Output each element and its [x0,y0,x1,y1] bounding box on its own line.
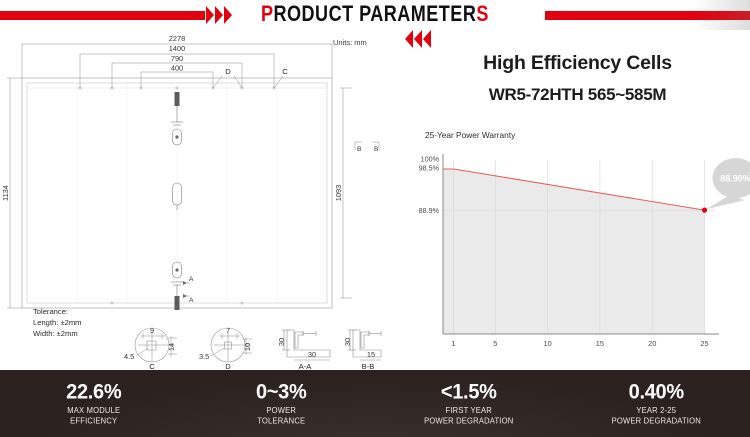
section-view-b-b: 30 15 B-B [343,330,381,370]
chart-xtick-label: 1 [451,339,455,348]
panel-title: High Efficiency Cells [405,52,750,75]
annotation-label: 88.90% [720,174,750,184]
detail-view-d: 7 10 3.5 D [199,326,252,370]
tolerance-width: Width: ±2mm [33,329,82,340]
detail-d-dim-side: 10 [243,343,252,351]
spec-value: 0.40% [629,380,684,405]
spec-label: POWER TOLERANCE [188,405,376,427]
callout-c: C [282,67,288,76]
spec-item-annual-degradation: 0.40% YEAR 2-25 POWER DEGRADATION [563,381,750,427]
chevron-right-icon [215,6,223,24]
spec-label: YEAR 2-25 POWER DEGRADATION [563,405,750,427]
section-marker-a-top: A [189,276,194,283]
header-bar-left [0,11,205,20]
section-b-label: B-B [362,362,375,370]
spec-value: <1.5% [441,380,497,405]
chart-ytick-label: 88.9% [419,206,440,215]
dimension-1400: 1400 [169,44,185,53]
detail-d-dim-top: 7 [226,326,230,335]
chart-xtick-label: 20 [648,339,656,348]
spec-value: 0~3% [256,380,307,405]
section-marker-b-right: B [374,146,379,153]
dimension-400: 400 [171,64,183,73]
section-a-dim-height: 30 [277,338,286,346]
right-panel: High Efficiency Cells WR5-72HTH 565~585M… [405,30,750,370]
spec-item-efficiency: 22.6% MAX MODULE EFFICIENCY [0,381,188,427]
chart-xtick-label: 25 [700,339,708,348]
spec-label-line2: POWER DEGRADATION [375,416,563,427]
header-bar-right [545,11,750,20]
spec-label-line1: MAX MODULE [0,405,188,416]
section-view-a-a: 30 30 A-A [277,330,330,370]
product-parameters-page: PRODUCT PARAMETERS Units: mm [0,0,750,437]
section-marker-b-left: B [357,146,362,153]
key-specs-bar: 22.6% MAX MODULE EFFICIENCY 0~3% POWER T… [0,370,750,437]
page-title-first-letter: P [261,2,274,27]
section-marker-a-bottom: A [189,297,194,304]
detail-c-dim-left: 4.5 [124,352,134,361]
chart-xtick-label: 5 [493,339,497,348]
chevron-right-icon [206,6,214,24]
header-chevrons-left [206,6,232,24]
panel-subtitle: WR5-72HTH 565~585M [405,85,750,105]
chart-area-fill [443,169,705,334]
chart-xtick-label: 10 [543,339,551,348]
dimension-790: 790 [171,54,183,63]
dimension-2278: 2278 [169,34,185,43]
section-b-dim-height: 30 [343,338,352,346]
page-title: PRODUCT PARAMETERS [261,2,489,28]
spec-label-line1: POWER [188,405,376,416]
dimension-1093: 1093 [334,185,343,201]
detail-d-label: D [225,362,231,370]
section-a-dim-width: 30 [308,350,316,359]
detail-c-dim-top: 9 [150,326,154,335]
tolerance-length: Length: ±2mm [33,318,82,329]
detail-view-c: 9 14 4.5 C [124,326,177,370]
spec-label-line2: TOLERANCE [188,416,376,427]
chart-title: 25-Year Power Warranty [425,130,515,140]
spec-label-line2: EFFICIENCY [0,416,188,427]
detail-c-dim-side: 14 [167,343,176,351]
page-title-middle: RODUCT PARAMETER [274,2,477,27]
module-technical-drawing: Units: mm [0,30,405,370]
callout-d: D [225,67,231,76]
tolerance-heading: Tolerance: [33,307,82,318]
spec-item-first-year-degradation: <1.5% FIRST YEAR POWER DEGRADATION [375,381,563,427]
chart-xtick-label: 15 [596,339,604,348]
section-b-dim-width: 15 [367,350,375,359]
section-arrow-a2 [183,294,187,298]
spec-label: FIRST YEAR POWER DEGRADATION [375,405,563,427]
section-arrow-a1 [183,281,187,285]
units-label: Units: mm [333,38,367,47]
annotation-endpoint-marker [702,208,707,213]
spec-value: 22.6% [66,380,121,405]
spec-item-tolerance: 0~3% POWER TOLERANCE [188,381,376,427]
dimension-1134: 1134 [1,185,10,201]
page-header: PRODUCT PARAMETERS [0,0,750,30]
detail-d-dim-left: 3.5 [199,352,209,361]
chart-canvas: 100%98.5%88.9%151015202588.90% [405,142,750,370]
spec-label-line1: FIRST YEAR [375,405,563,416]
spec-label-line2: POWER DEGRADATION [563,416,750,427]
chart-ytick-label: 98.5% [419,164,440,173]
spec-label: MAX MODULE EFFICIENCY [0,405,188,427]
spec-label-line1: YEAR 2-25 [563,405,750,416]
section-a-label: A-A [299,362,313,370]
chevron-right-icon [224,6,232,24]
tolerance-block: Tolerance: Length: ±2mm Width: ±2mm [33,307,82,339]
page-title-last-letter: S [476,2,489,27]
chart-ytick-label: 100% [421,155,440,164]
power-warranty-chart: 100%98.5%88.9%151015202588.90% [405,142,750,370]
detail-c-label: C [149,362,155,370]
